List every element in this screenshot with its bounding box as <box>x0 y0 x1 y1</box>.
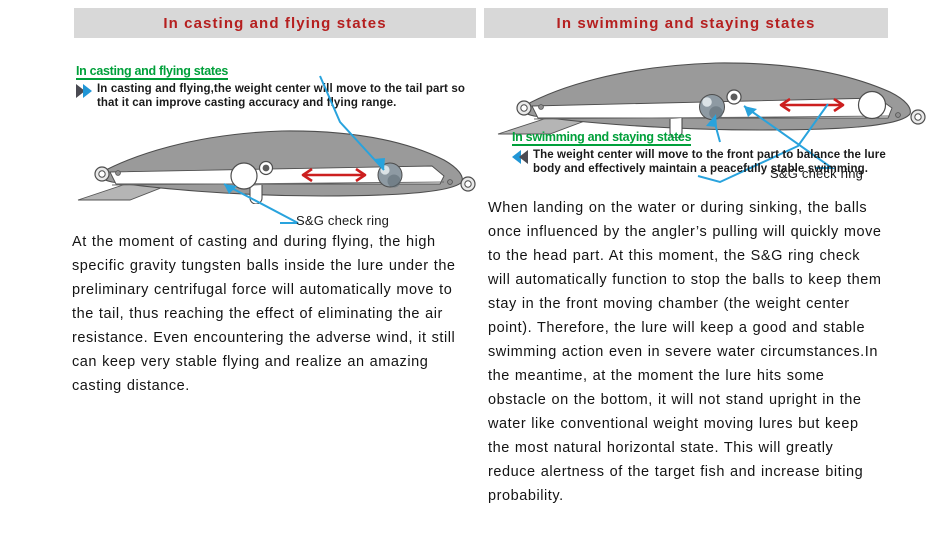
lure-svg-swimming <box>494 58 934 138</box>
left-callout: In casting and flying states In casting … <box>76 62 468 110</box>
left-body-paragraph: At the moment of casting and during flyi… <box>72 230 476 398</box>
lure-svg-casting <box>72 126 482 204</box>
header-title-left: In casting and flying states <box>163 15 386 32</box>
left-callout-text: In casting and flying,the weight center … <box>97 83 465 110</box>
right-callout-text: The weight center will move to the front… <box>533 149 905 176</box>
right-callout-arrows <box>512 149 528 164</box>
header-band-right: In swimming and staying states <box>484 8 888 38</box>
left-callout-heading: In casting and flying states <box>76 65 228 80</box>
left-callout-arrows <box>76 83 92 98</box>
page-root: In casting and flying states In swimming… <box>0 0 950 540</box>
triangle-right-blue-icon <box>83 84 92 98</box>
right-callout-heading: In swimming and staying states <box>512 131 691 146</box>
left-lure-diagram <box>72 126 482 209</box>
right-callout: In swimming and staying states The weigh… <box>512 128 912 176</box>
header-title-right: In swimming and staying states <box>557 15 816 32</box>
triangle-left-dark-icon <box>519 150 528 164</box>
right-body-paragraph: When landing on the water or during sink… <box>488 196 884 508</box>
left-ring-label: S&G check ring <box>296 213 389 228</box>
header-band-left: In casting and flying states <box>74 8 476 38</box>
